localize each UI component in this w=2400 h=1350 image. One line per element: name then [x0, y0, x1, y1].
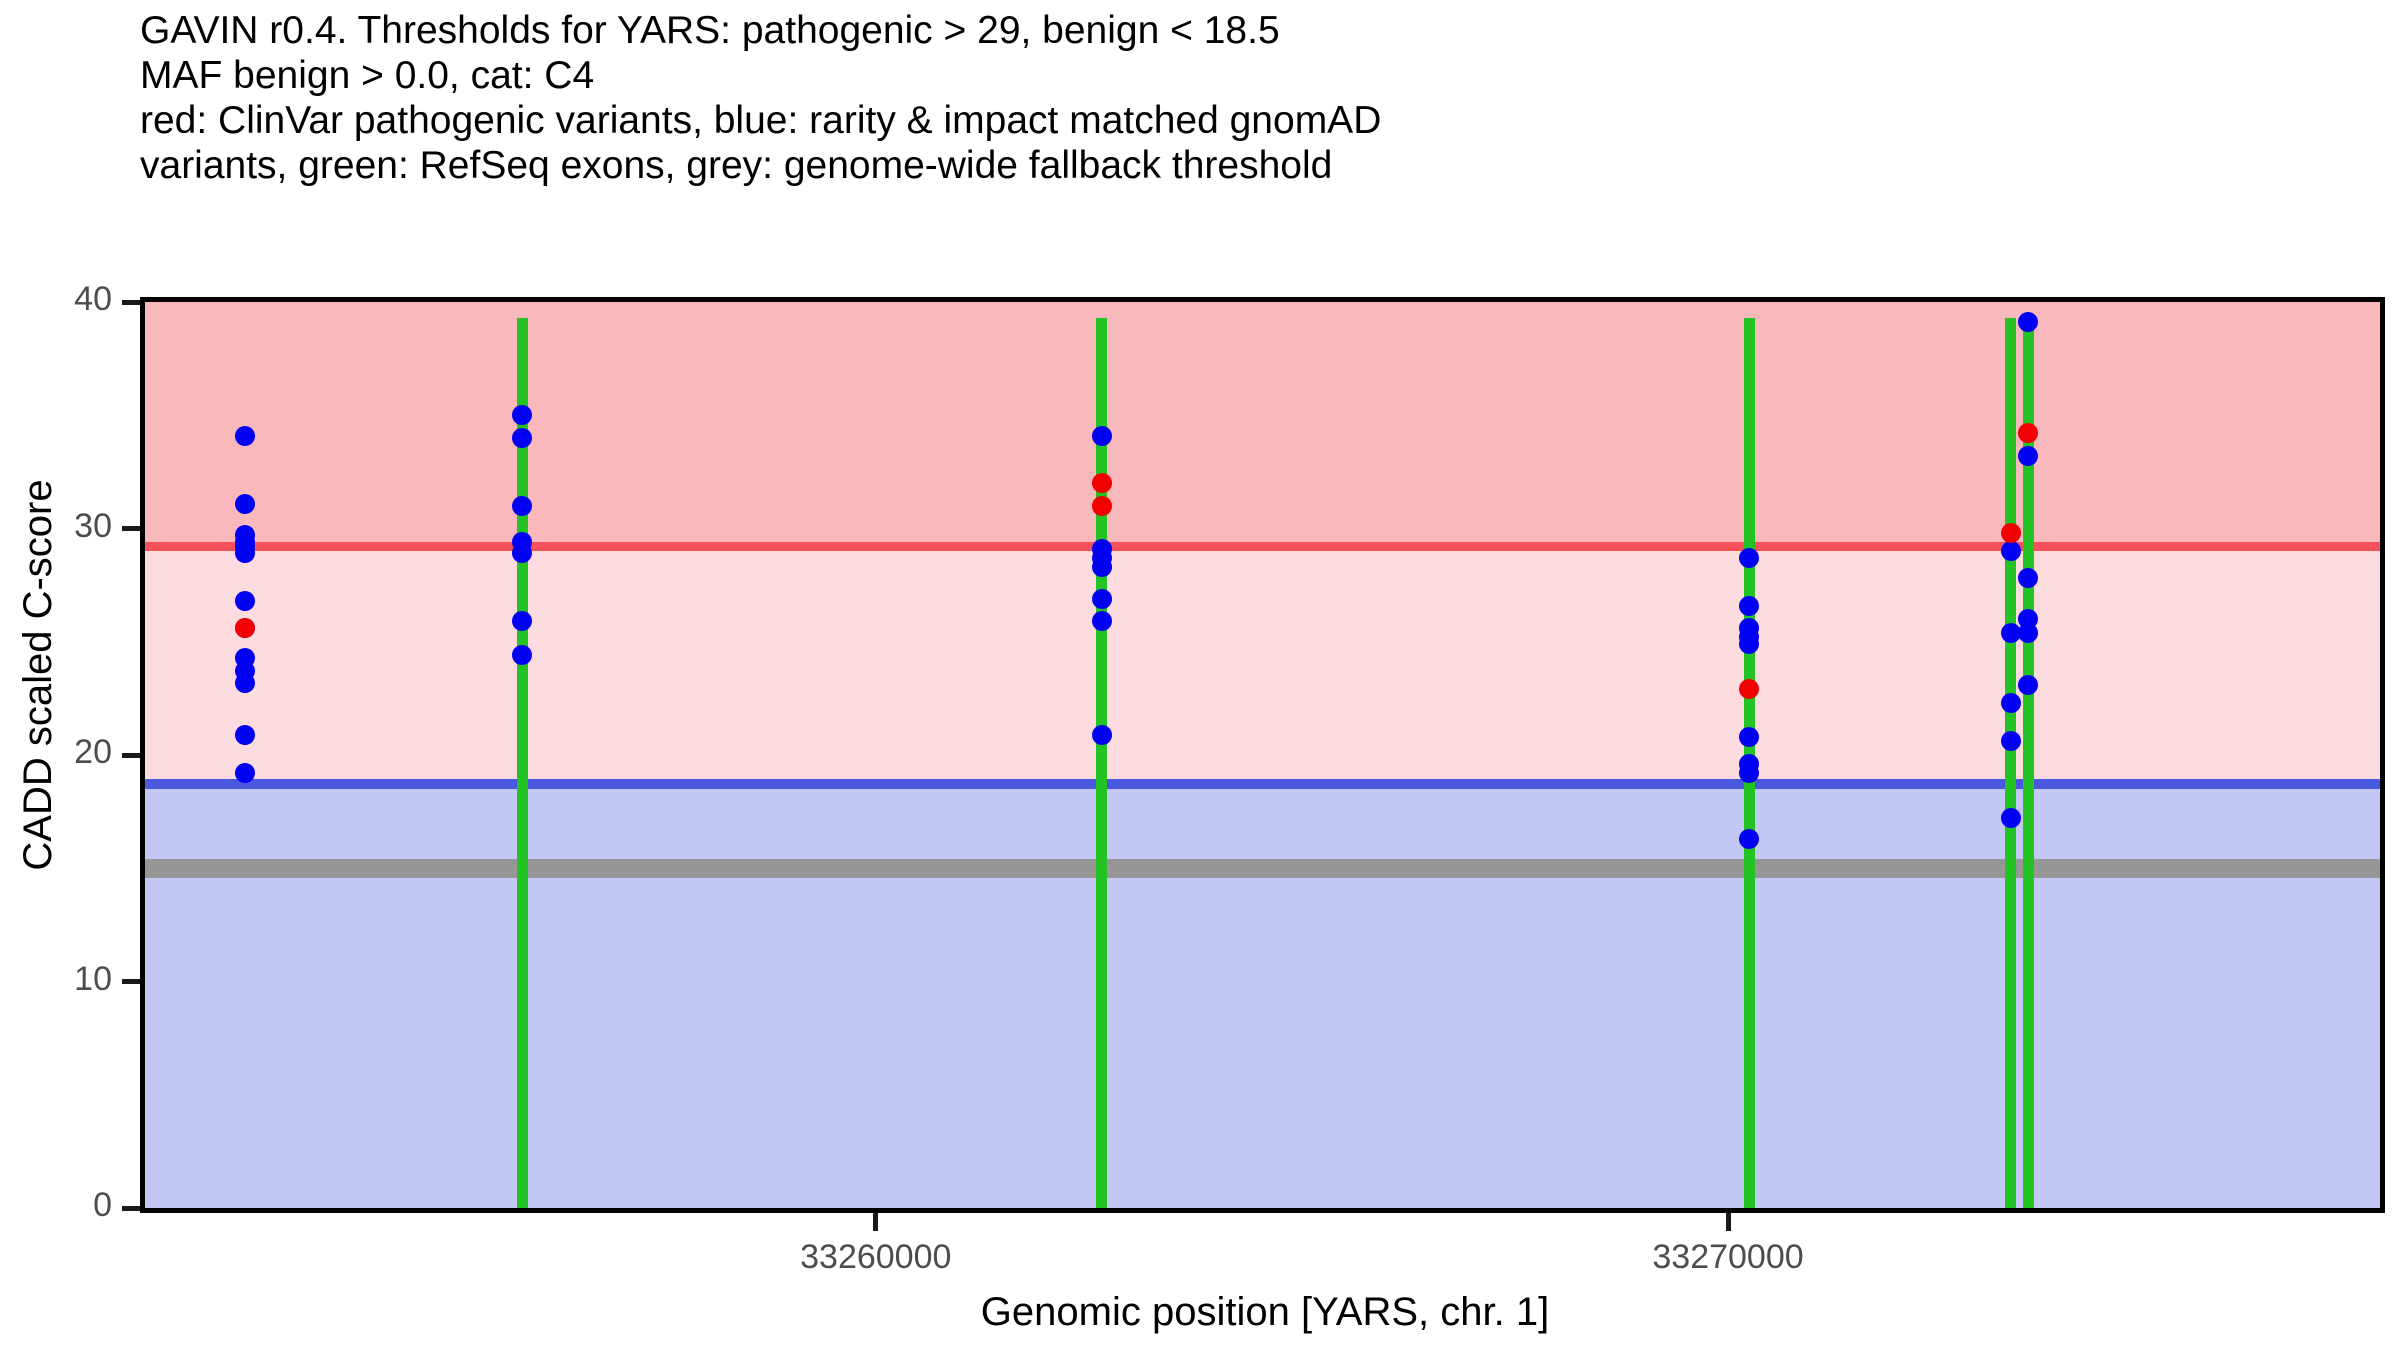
x-axis-tick: [1726, 1213, 1731, 1231]
gnomad-variant-point: [1092, 725, 1112, 745]
gnomad-variant-point: [235, 494, 255, 514]
chart-root: GAVIN r0.4. Thresholds for YARS: pathoge…: [0, 0, 2400, 1350]
y-axis-tick: [122, 1206, 140, 1211]
title-line-1: GAVIN r0.4. Thresholds for YARS: pathoge…: [140, 8, 2340, 53]
y-axis-title-wrap: CADD scaled C-score: [8, 0, 68, 1350]
gnomad-variant-point: [1092, 589, 1112, 609]
x-axis-title: Genomic position [YARS, chr. 1]: [140, 1290, 2390, 1335]
clinvar-pathogenic-point: [1092, 473, 1112, 493]
y-axis-tick-label: 20: [22, 733, 112, 772]
gnomad-variant-point: [1739, 829, 1759, 849]
title-line-2: MAF benign > 0.0, cat: C4: [140, 53, 2340, 98]
y-axis-tick: [122, 753, 140, 758]
x-axis-tick: [873, 1213, 878, 1231]
plot-area: [145, 302, 2380, 1208]
benign-region: [145, 789, 2380, 1208]
y-axis-tick-label: 10: [22, 960, 112, 999]
exon-marker: [2005, 318, 2016, 1208]
y-axis-tick-label: 40: [22, 280, 112, 319]
plot-panel: [140, 297, 2385, 1213]
chart-title: GAVIN r0.4. Thresholds for YARS: pathoge…: [140, 8, 2340, 188]
gnomad-variant-point: [2018, 446, 2038, 466]
gnomad-variant-point: [2018, 623, 2038, 643]
clinvar-pathogenic-point: [1092, 496, 1112, 516]
clinvar-pathogenic-point: [2001, 523, 2021, 543]
gnomad-variant-point: [512, 428, 532, 448]
y-axis-title: CADD scaled C-score: [8, 0, 68, 1350]
ambiguous-region: [145, 551, 2380, 789]
fallback-threshold-line: [145, 859, 2380, 878]
gnomad-variant-point: [235, 725, 255, 745]
gnomad-variant-point: [2001, 693, 2021, 713]
y-axis-tick: [122, 300, 140, 305]
exon-marker: [517, 318, 528, 1208]
gnomad-variant-point: [1092, 557, 1112, 577]
y-axis-tick: [122, 979, 140, 984]
gnomad-variant-point: [235, 591, 255, 611]
x-axis-tick-label: 33260000: [726, 1238, 1026, 1277]
pathogenic-region: [145, 302, 2380, 551]
title-line-4: variants, green: RefSeq exons, grey: gen…: [140, 143, 2340, 188]
gnomad-variant-point: [1092, 426, 1112, 446]
y-axis-tick-label: 0: [22, 1186, 112, 1225]
gnomad-variant-point: [235, 426, 255, 446]
y-axis-tick-label: 30: [22, 507, 112, 546]
gnomad-variant-point: [2001, 541, 2021, 561]
gnomad-variant-point: [235, 673, 255, 693]
gnomad-variant-point: [1092, 611, 1112, 631]
gnomad-variant-point: [1739, 596, 1759, 616]
x-axis-tick-label: 33270000: [1578, 1238, 1878, 1277]
gnomad-variant-point: [512, 496, 532, 516]
exon-marker: [1096, 318, 1107, 1208]
title-line-3: red: ClinVar pathogenic variants, blue: …: [140, 98, 2340, 143]
y-axis-tick: [122, 526, 140, 531]
gnomad-variant-point: [2018, 675, 2038, 695]
